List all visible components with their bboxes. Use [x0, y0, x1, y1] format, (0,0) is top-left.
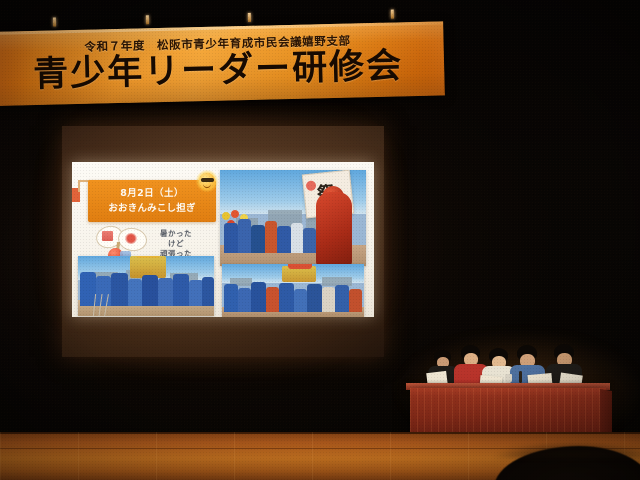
pencil-line [104, 294, 109, 316]
photo-crowd-tr [220, 197, 366, 253]
crowd-person [224, 223, 238, 253]
photo-scene: 令和７年度 松阪市青少年育成市民会議嬉野支部 青少年リーダー研修会 8月2日（土… [0, 0, 640, 480]
fan-left-motif [102, 231, 113, 241]
slide-photo-top-right: 祭 [220, 170, 366, 266]
mikoshi-roof [288, 264, 312, 269]
banner-clip-right [248, 13, 251, 22]
crowd-person [294, 289, 307, 312]
crowd-person [335, 285, 349, 312]
banner-clip-far [391, 10, 394, 19]
crowd-person [189, 280, 203, 306]
crowd-person [291, 223, 303, 253]
table-right-side [600, 389, 612, 435]
crowd-person [277, 226, 291, 253]
presentation-slide: 8月2日（土） おおきんみこし担ぎ 暑かった [72, 162, 374, 317]
crowd-person [279, 283, 294, 312]
banner-clip-left [53, 17, 56, 26]
audience-head-silhouette [494, 446, 640, 480]
crowd-person [202, 277, 214, 306]
fan-right-motif [125, 233, 137, 244]
crowd-person [349, 289, 362, 312]
stage-banner: 令和７年度 松阪市青少年育成市民会議嬉野支部 青少年リーダー研修会 [0, 13, 445, 108]
crowd-person [322, 287, 335, 312]
crowd-person [142, 275, 158, 306]
projection-screen: 8月2日（土） おおきんみこし担ぎ 暑かった [62, 126, 384, 357]
crowd-person [238, 288, 251, 312]
crowd-person [251, 225, 265, 253]
slide-photo-bottom-right [222, 264, 364, 317]
audience-head-hair-fuzz [494, 442, 640, 458]
photo-crowd-br [222, 276, 364, 312]
pencil-line [98, 294, 102, 316]
slide-pencil-lines [92, 294, 132, 316]
slide-title-line2: おおきんみこし担ぎ [88, 200, 216, 214]
banner-clip-center [146, 15, 149, 24]
pencil-line [93, 294, 96, 316]
banner-cloth: 令和７年度 松阪市青少年育成市民会議嬉野支部 青少年リーダー研修会 [0, 21, 445, 106]
microphone [519, 371, 522, 383]
crowd-person [265, 221, 277, 253]
crowd-person [158, 278, 173, 306]
crowd-person [266, 287, 279, 312]
crowd-person [307, 284, 322, 312]
stage-table [410, 388, 606, 436]
table-panel-slats [410, 388, 606, 436]
crowd-person [238, 219, 251, 253]
cup [505, 374, 512, 383]
crowd-person [224, 284, 238, 312]
sun-sunglasses [201, 178, 214, 182]
sun-sunglasses-icon [194, 168, 220, 194]
crowd-person [173, 274, 189, 306]
crowd-person [303, 228, 316, 253]
crowd-person [251, 282, 266, 312]
